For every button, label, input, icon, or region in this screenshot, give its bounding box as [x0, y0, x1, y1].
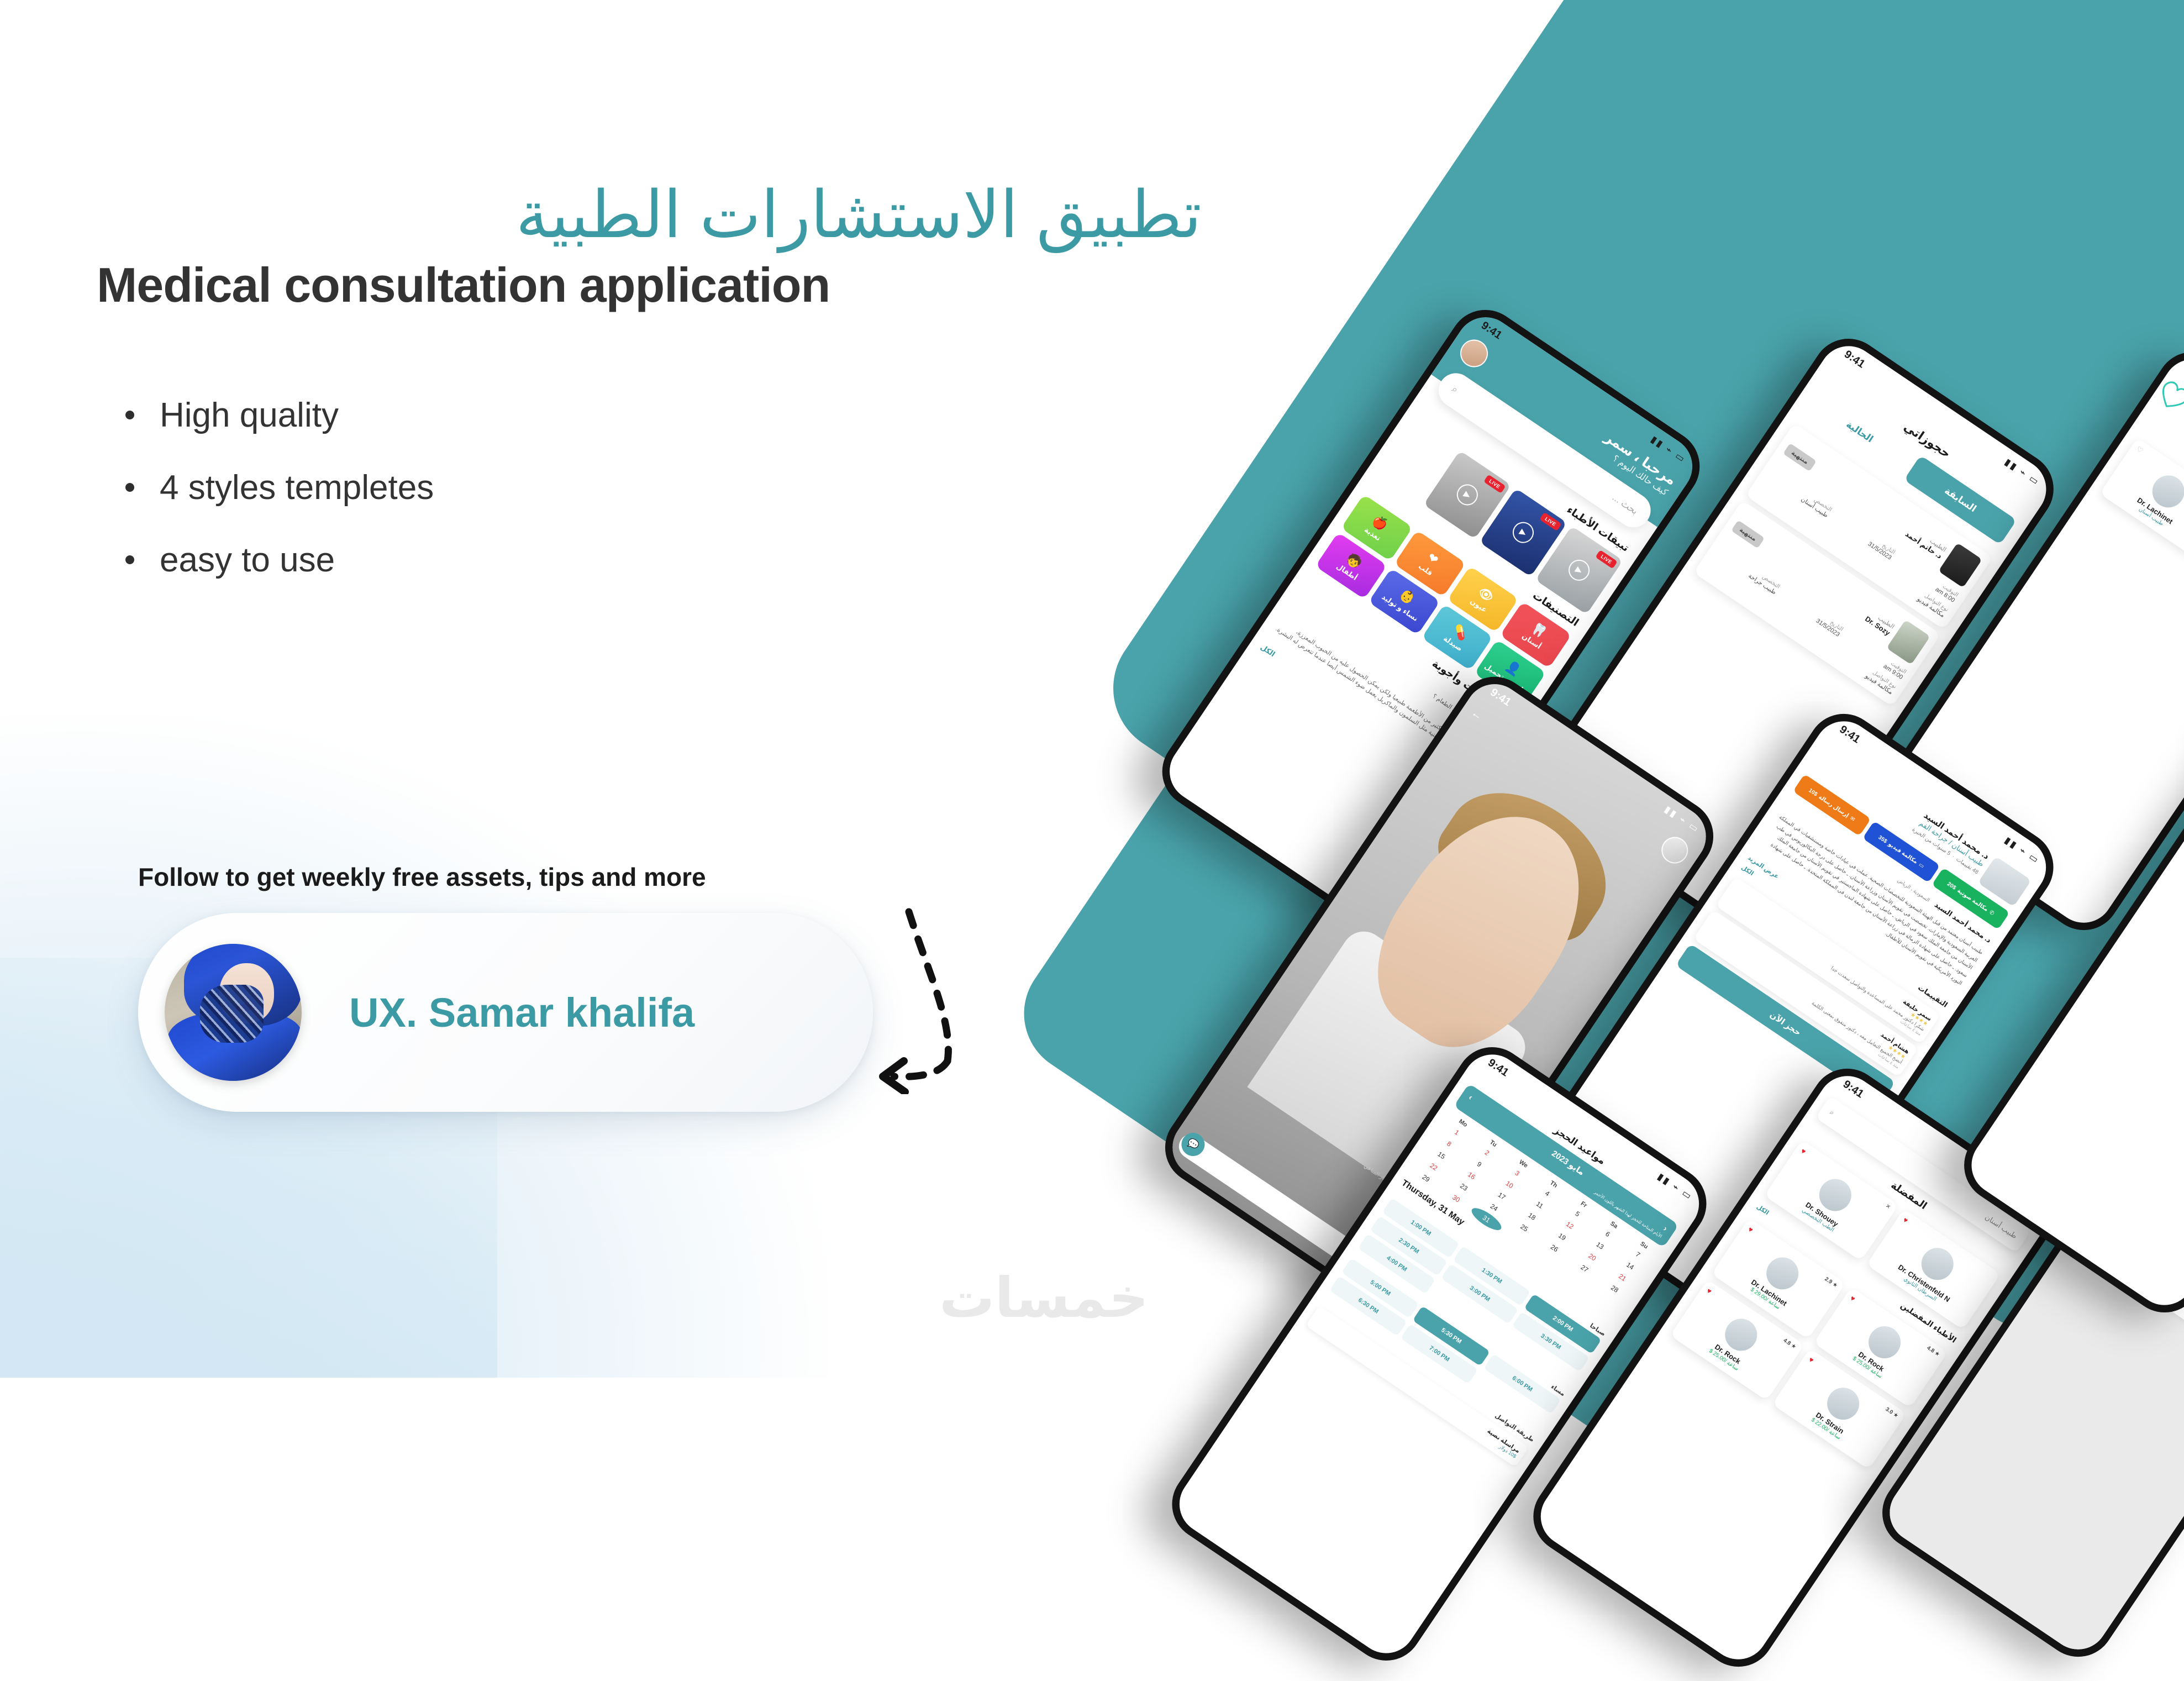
feature-list: High quality 4 styles templetes easy to … [97, 396, 1202, 580]
favorite-icon[interactable]: ♡ [2134, 444, 2145, 455]
bullet-dot-icon [125, 483, 134, 492]
bullet-dot-icon [125, 555, 134, 564]
prev-month-button[interactable]: ‹ [1662, 1224, 1670, 1233]
search-placeholder: بحث ... [1610, 492, 1640, 517]
rating-badge: ★ 4.8 [1782, 1337, 1797, 1350]
favorite-icon[interactable]: ♥ [1849, 1294, 1857, 1303]
feature-label: High quality [160, 396, 339, 435]
play-icon[interactable]: ▶ [1453, 480, 1482, 509]
search-icon: ⌕ [1450, 384, 1460, 396]
list-item: 4 styles templetes [97, 468, 1202, 507]
rating-badge: ★ 3.0 [1884, 1406, 1899, 1419]
curved-dashed-arrow-left-icon [851, 895, 994, 1094]
status-time: 9:41 [1842, 348, 1867, 371]
search-icon: ⌕ [1828, 1108, 1836, 1117]
next-month-button[interactable]: › [1467, 1092, 1475, 1102]
phone-icon: ✆ [1988, 909, 1995, 917]
status-time: 9:41 [1837, 723, 1862, 745]
rating-badge: ★ 2.9 [1823, 1276, 1838, 1289]
favorite-icon[interactable]: ♥ [1705, 1286, 1713, 1296]
feature-label: easy to use [160, 540, 335, 580]
doctor-card[interactable]: ★ 2.9 ♡ Dr. Lachinet طبيب أسنان [2099, 438, 2184, 556]
favorite-icon[interactable]: ♥ [1902, 1216, 1910, 1225]
live-badge: LIVE [1539, 512, 1561, 532]
play-icon[interactable]: ▶ [1509, 518, 1538, 547]
hero-text-column: تطبيق الاستشارات الطبية Medical consulta… [97, 177, 1202, 613]
video-icon: ▭ [1918, 861, 1925, 869]
rating-badge: ★ 4.8 [1925, 1345, 1940, 1358]
favorite-icon[interactable]: ♥ [1746, 1225, 1755, 1235]
list-item: easy to use [97, 540, 1202, 580]
status-badge: منتهية [1783, 443, 1817, 471]
bullet-dot-icon [125, 411, 134, 419]
status-time: 9:41 [1488, 686, 1513, 708]
status-time: 9:41 [1486, 1056, 1511, 1079]
profile-name: UX. Samar khalifa [349, 989, 694, 1036]
favorite-icon[interactable]: ♥ [1799, 1147, 1808, 1156]
play-icon[interactable]: ▶ [1565, 555, 1594, 585]
status-badge: منتهية [1731, 520, 1765, 549]
status-time: 9:41 [1479, 319, 1504, 342]
status-time: 9:41 [1840, 1078, 1866, 1100]
live-badge: LIVE [1595, 550, 1617, 569]
follow-cta-text: Follow to get weekly free assets, tips a… [138, 862, 873, 892]
follow-block: Follow to get weekly free assets, tips a… [138, 862, 873, 1112]
feature-label: 4 styles templetes [160, 468, 434, 507]
favorite-icon[interactable]: ♥ [1807, 1355, 1815, 1364]
avatar [165, 944, 302, 1081]
envelope-icon: ✉ [1849, 815, 1856, 823]
heart-icon: ❤ [1425, 551, 1441, 567]
page-title-english: Medical consultation application [97, 258, 1202, 313]
close-icon[interactable]: ✕ [1884, 1203, 1891, 1211]
list-item: High quality [97, 396, 1202, 435]
live-badge: LIVE [1483, 474, 1506, 493]
watermark: خمسات [939, 1265, 1149, 1330]
profile-pill[interactable]: UX. Samar khalifa [138, 913, 873, 1112]
page-title-arabic: تطبيق الاستشارات الطبية [97, 177, 1202, 254]
